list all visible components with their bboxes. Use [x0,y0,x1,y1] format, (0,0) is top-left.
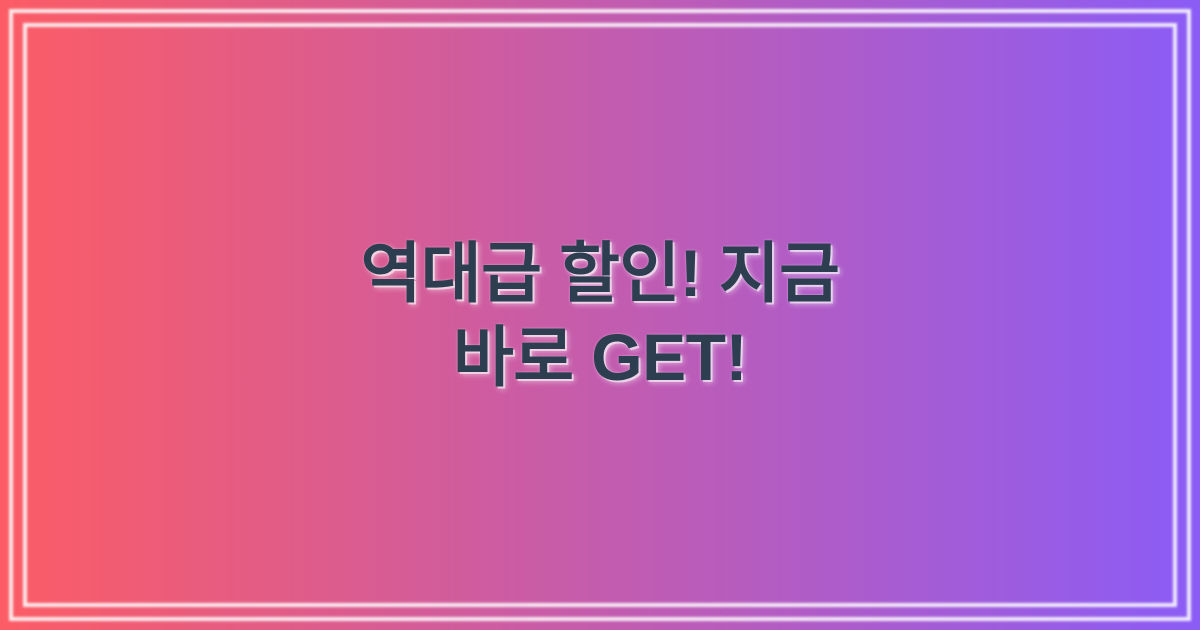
promo-banner: 역대급 할인! 지금 바로 GET! [0,0,1200,630]
headline-container: 역대급 할인! 지금 바로 GET! [0,0,1200,630]
page-title: 역대급 할인! 지금 바로 GET! [361,231,840,400]
headline-line-1: 역대급 할인! 지금 [361,231,840,315]
headline-line-2: 바로 GET! [361,315,840,399]
